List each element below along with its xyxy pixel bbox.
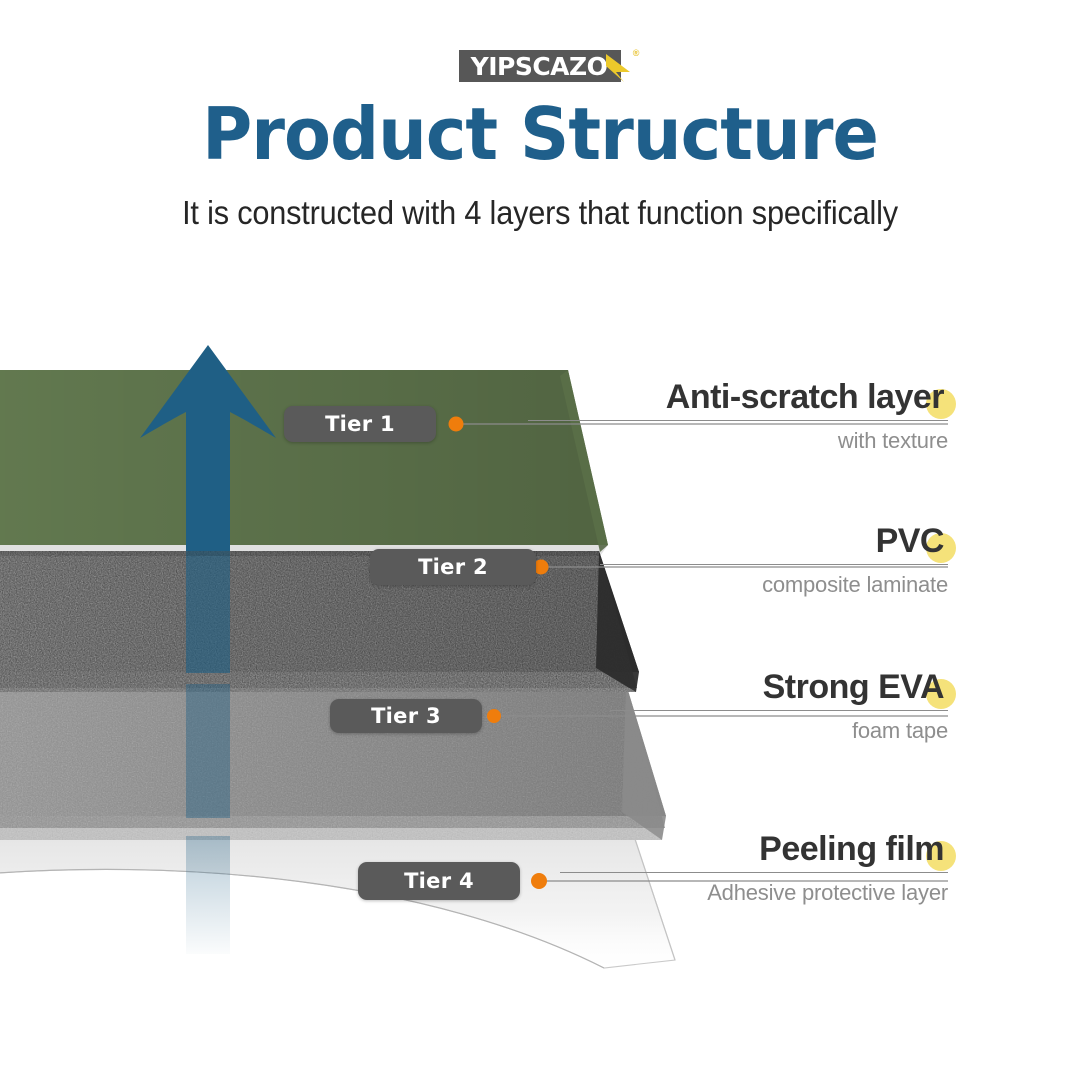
tier-chip-1[interactable]: Tier 1 xyxy=(284,406,436,442)
callout-tier-2-title: PVC xyxy=(876,522,944,561)
tier-chip-4-label: Tier 4 xyxy=(404,869,474,893)
tier-chip-2-label: Tier 2 xyxy=(418,555,488,579)
callout-tier-1-subtitle: with texture xyxy=(528,428,948,454)
callout-tier-1-title: Anti-scratch layer xyxy=(666,378,944,417)
product-structure-infographic: YIPSCAZO ® Product Structure It is const… xyxy=(0,0,1080,1080)
connector-dot-tier-4 xyxy=(531,873,547,889)
callout-tier-4-rule xyxy=(560,872,948,873)
callout-tier-1: Anti-scratch layer with texture xyxy=(528,378,948,454)
connector-dot-tier-1 xyxy=(449,417,464,432)
callout-tier-1-title-row: Anti-scratch layer xyxy=(666,378,948,417)
callout-tier-2: PVC composite laminate xyxy=(600,522,948,598)
callout-tier-3: Strong EVA foam tape xyxy=(610,668,948,744)
tier-chip-2[interactable]: Tier 2 xyxy=(370,549,536,585)
callout-tier-4: Peeling film Adhesive protective layer xyxy=(560,830,948,906)
tier-chip-1-label: Tier 1 xyxy=(325,412,395,436)
connector-dot-tier-3 xyxy=(487,709,501,723)
callout-tier-3-title-row: Strong EVA xyxy=(763,668,948,707)
callout-tier-3-rule xyxy=(610,710,948,711)
layer-tier-1-anti-scratch xyxy=(0,370,608,556)
callout-tier-4-title: Peeling film xyxy=(759,830,944,869)
callout-tier-2-title-row: PVC xyxy=(876,522,948,561)
callout-tier-1-rule xyxy=(528,420,948,421)
callout-tier-3-subtitle: foam tape xyxy=(610,718,948,744)
tier-chip-3[interactable]: Tier 3 xyxy=(330,699,482,733)
callout-tier-2-rule xyxy=(600,564,948,565)
layer-tier-2-pvc xyxy=(0,548,660,693)
direction-arrow-faded-segments xyxy=(186,551,230,954)
tier-chip-3-label: Tier 3 xyxy=(371,704,441,728)
callout-tier-3-title: Strong EVA xyxy=(763,668,944,707)
callout-tier-4-subtitle: Adhesive protective layer xyxy=(560,880,948,906)
callout-tier-2-subtitle: composite laminate xyxy=(600,572,948,598)
tier-chip-4[interactable]: Tier 4 xyxy=(358,862,520,900)
callout-tier-4-title-row: Peeling film xyxy=(759,830,948,869)
